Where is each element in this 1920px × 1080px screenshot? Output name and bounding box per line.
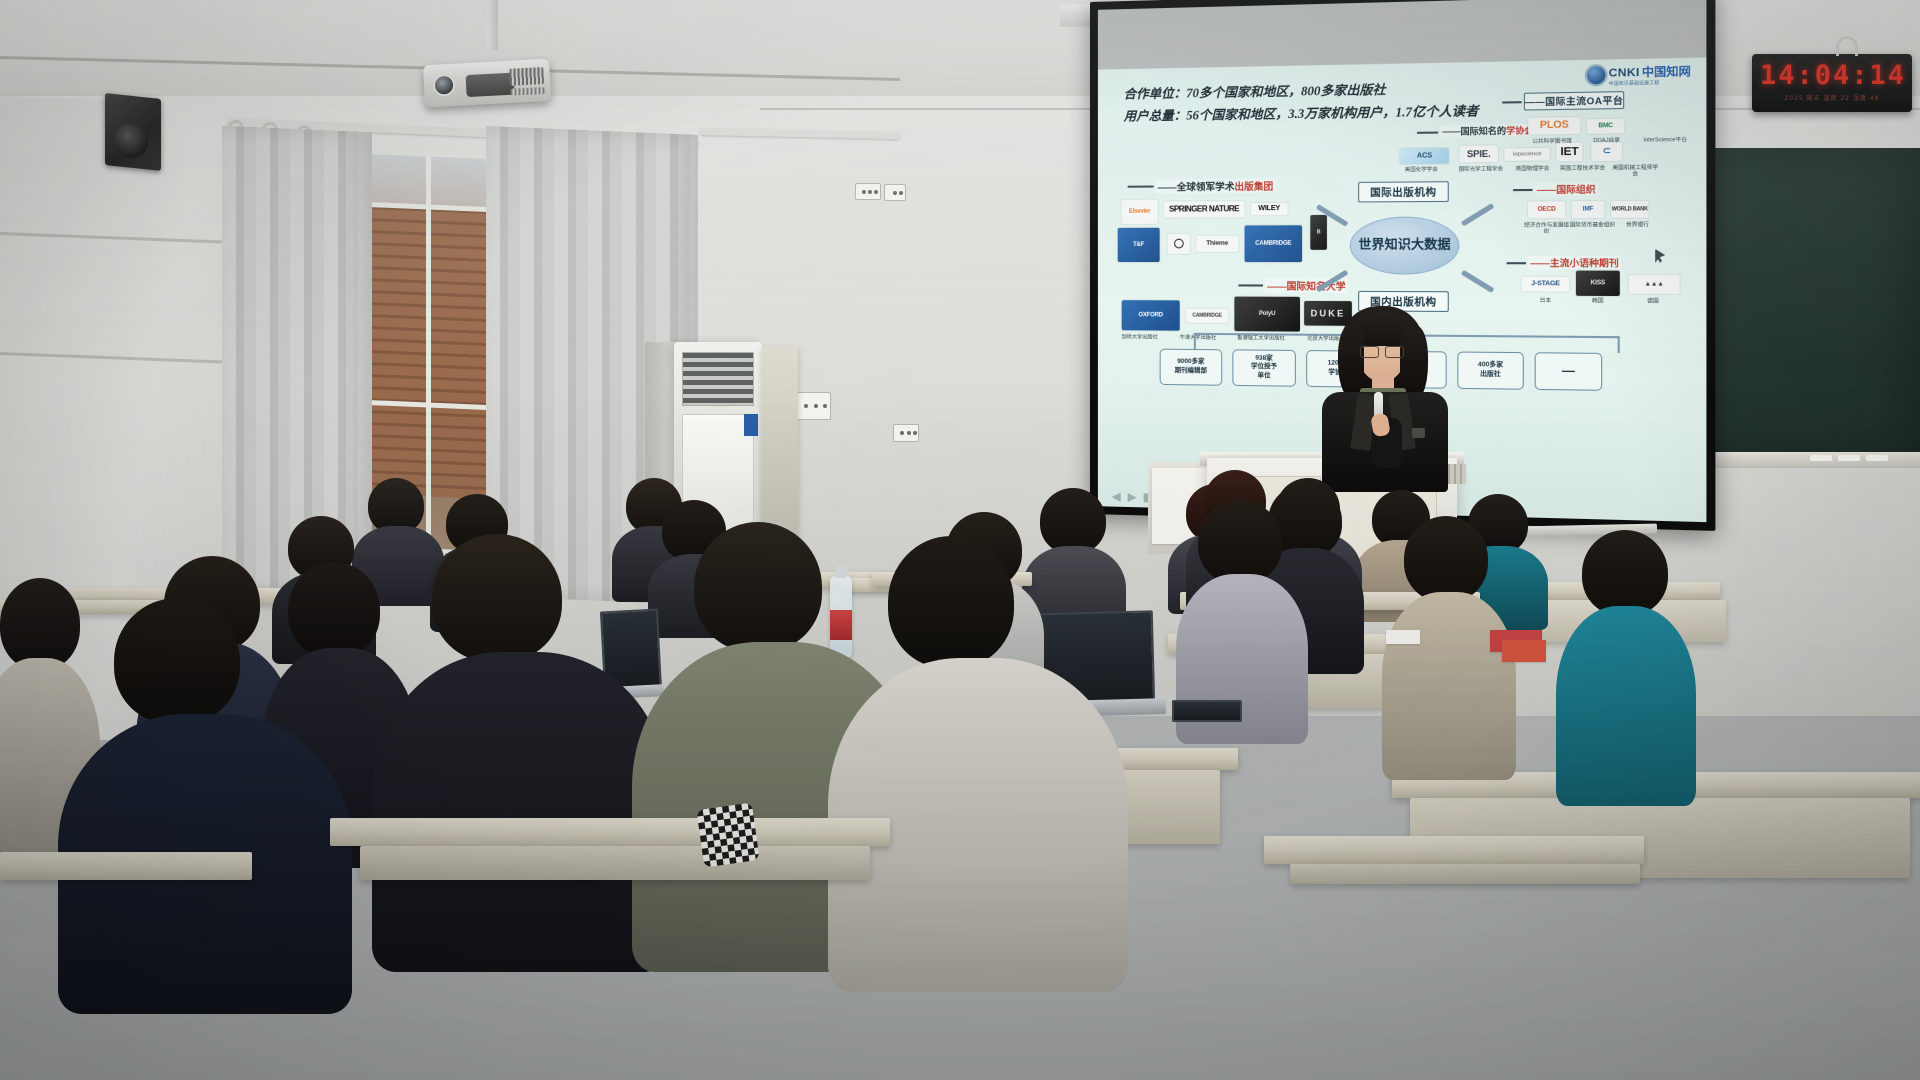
caption-univ-1: 剑桥大学出版社 xyxy=(1112,334,1168,341)
desk-row1-center-body xyxy=(360,846,870,880)
stat-box: — xyxy=(1535,352,1603,391)
logo-jstage: J-STAGE xyxy=(1522,276,1570,291)
section-label-societies: ——国际知名的学协会 xyxy=(1440,123,1535,137)
desk-row1-center xyxy=(330,818,890,846)
paper-note xyxy=(1386,630,1420,644)
logo-worldbank: WORLD BANK xyxy=(1611,200,1649,217)
laptop-edge[interactable] xyxy=(1172,700,1242,722)
cnki-globe-icon xyxy=(1587,66,1606,84)
caption-oa-1: 公共科学图书馆 xyxy=(1522,138,1583,146)
wall-outlet[interactable] xyxy=(855,183,881,200)
cnki-tagline: 中国知识基础设施工程 xyxy=(1609,79,1691,87)
classroom-photo-scene: 14:04:14 2025 周五 温度 22 湿度 48 CNKI 中国知网 中… xyxy=(0,0,1920,1080)
caption-iet: 英国工程技术学会 xyxy=(1556,165,1608,172)
presenter-badge xyxy=(1412,428,1425,438)
logo-cambridge: CAMBRIDGE xyxy=(1245,225,1302,262)
logo-elsevier: Elsevier xyxy=(1122,199,1158,223)
projector-mount-pole xyxy=(487,0,498,54)
mouse-pointer-icon xyxy=(1655,249,1665,263)
logo-imf: IMF xyxy=(1572,201,1605,218)
caption-smalllang-3: 德国 xyxy=(1633,298,1673,305)
caption-iop: 英国物理学会 xyxy=(1509,165,1557,172)
presenter-hair-left xyxy=(1338,326,1364,398)
caption-smalllang-2: 韩国 xyxy=(1578,297,1617,304)
ppt-prev-icon[interactable] xyxy=(1112,493,1121,502)
logo-sage: ◯ xyxy=(1168,233,1190,253)
clock-time: 14:04:14 xyxy=(1760,60,1904,91)
chalk-piece xyxy=(1810,455,1832,461)
section-rule-oa xyxy=(1502,101,1521,103)
water-bottle[interactable] xyxy=(830,576,852,658)
logo-brill: B xyxy=(1310,214,1327,249)
caption-org-3: 世界银行 xyxy=(1615,221,1659,228)
logo-wiley: WILEY xyxy=(1251,202,1288,214)
section-rule-societies xyxy=(1417,131,1438,133)
caption-univ-3: 香港理工大学出版社 xyxy=(1230,335,1291,342)
cnki-chinese: 中国知网 xyxy=(1642,62,1691,80)
wall-control-panel[interactable] xyxy=(795,392,831,420)
stat-box: 938家 学位授予 单位 xyxy=(1232,349,1296,386)
presenter xyxy=(1288,306,1468,486)
wall-speaker xyxy=(105,93,161,171)
section-label-orgs: ——国际组织 xyxy=(1535,182,1598,196)
desk-row1-right xyxy=(1264,836,1644,864)
logo-taylor-francis: T&F xyxy=(1118,227,1160,261)
wall-outlet-low[interactable] xyxy=(893,424,919,442)
desk-row1-left xyxy=(0,852,252,880)
caption-oa-2: DOAJ目录 xyxy=(1583,137,1631,144)
connector-drop-6 xyxy=(1618,336,1620,353)
section-rule-publishers xyxy=(1128,185,1154,187)
logo-oecd: OECD xyxy=(1528,201,1565,218)
caption-oa-3: InterScience平台 xyxy=(1633,136,1697,144)
section-rule-universities xyxy=(1238,284,1263,286)
projector-vent-lower-icon xyxy=(510,87,544,96)
checkered-cuff xyxy=(696,802,760,867)
section-prefix: ——国际知名的 xyxy=(1442,125,1506,136)
air-conditioner-badge xyxy=(744,414,758,436)
cnki-logo: CNKI 中国知网 中国知识基础设施工程 xyxy=(1587,62,1691,87)
chalk-piece xyxy=(1838,455,1860,461)
section-rule-orgs xyxy=(1513,188,1532,190)
caption-org-1: 经济合作与发展组织 xyxy=(1522,222,1572,236)
caption-asme: 美国机械工程师学会 xyxy=(1611,164,1660,178)
wall-outlet-secondary[interactable] xyxy=(884,184,906,201)
node-international-publishers: 国际出版机构 xyxy=(1358,181,1449,202)
logo-kiss: KISS xyxy=(1576,270,1620,295)
section-prefix: ——全球领军学术 xyxy=(1158,181,1235,193)
caption-spie: 国际光学工程学会 xyxy=(1453,166,1509,173)
arrow-right-bottom xyxy=(1461,269,1495,292)
stat-box: 9000多家 期刊编辑部 xyxy=(1160,348,1223,385)
logo-bmc: BMC xyxy=(1587,118,1624,133)
section-label-smalllang: ——主流小语种期刊 xyxy=(1528,255,1621,269)
node-world-knowledge-bigdata: 世界知识大数据 xyxy=(1350,216,1460,274)
projector-vent-icon xyxy=(509,67,544,86)
slide-headline-2: 用户总量：56个国家和地区，3.3万家机构用户，1.7亿个人读者 xyxy=(1124,99,1479,124)
desk-row1-right-body xyxy=(1290,864,1640,884)
logo-plos: PLOS xyxy=(1528,117,1580,134)
ppt-next-icon[interactable] xyxy=(1128,493,1137,502)
section-label-oa: ——国际主流OA平台 xyxy=(1524,91,1624,110)
clock-sub-readout: 2025 周五 温度 22 湿度 48 xyxy=(1760,93,1904,102)
connector-drop-1 xyxy=(1194,332,1196,348)
caption-acs: 美国化学学会 xyxy=(1392,166,1451,173)
logo-cambridge-univ: CAMBRIDGE xyxy=(1186,308,1229,322)
section-label-publishers: ——全球领军学术出版集团 xyxy=(1156,178,1276,193)
ceiling-projector xyxy=(423,59,551,108)
bottle-label xyxy=(830,610,852,640)
section-highlight: 出版集团 xyxy=(1234,181,1273,192)
caption-smalllang-1: 日本 xyxy=(1526,297,1565,304)
logo-spie: SPIE. xyxy=(1459,145,1498,162)
logo-iop: iopscience xyxy=(1504,147,1549,160)
clock-mount-bracket xyxy=(1836,36,1858,56)
caption-org-2: 国际货币基金组织 xyxy=(1567,222,1617,229)
arrow-right-top xyxy=(1461,203,1495,226)
projector-body-detail xyxy=(466,73,515,97)
digital-wall-clock: 14:04:14 2025 周五 温度 22 湿度 48 xyxy=(1752,54,1912,112)
presenter-glasses-icon xyxy=(1360,346,1404,356)
air-conditioner-vent-icon xyxy=(682,352,754,406)
logo-springer-nature: SPRINGER NATURE xyxy=(1164,201,1245,218)
caption-univ-2: 牛津大学出版社 xyxy=(1170,334,1227,341)
logo-thieme: Thieme xyxy=(1196,235,1239,251)
logo-oxford: OXFORD xyxy=(1122,300,1180,331)
chalk-piece xyxy=(1866,455,1888,461)
section-rule-smalllang xyxy=(1507,262,1526,264)
red-book xyxy=(1502,640,1546,662)
bottle-cap xyxy=(835,566,847,578)
logo-doi: ▲▲▲ xyxy=(1629,274,1680,293)
cnki-mark: CNKI xyxy=(1609,66,1640,79)
logo-acs: ACS xyxy=(1400,147,1449,163)
projector-lens-icon xyxy=(432,74,455,97)
slide-headline-1: 合作单位：70多个国家和地区，800多家出版社 xyxy=(1124,78,1386,102)
